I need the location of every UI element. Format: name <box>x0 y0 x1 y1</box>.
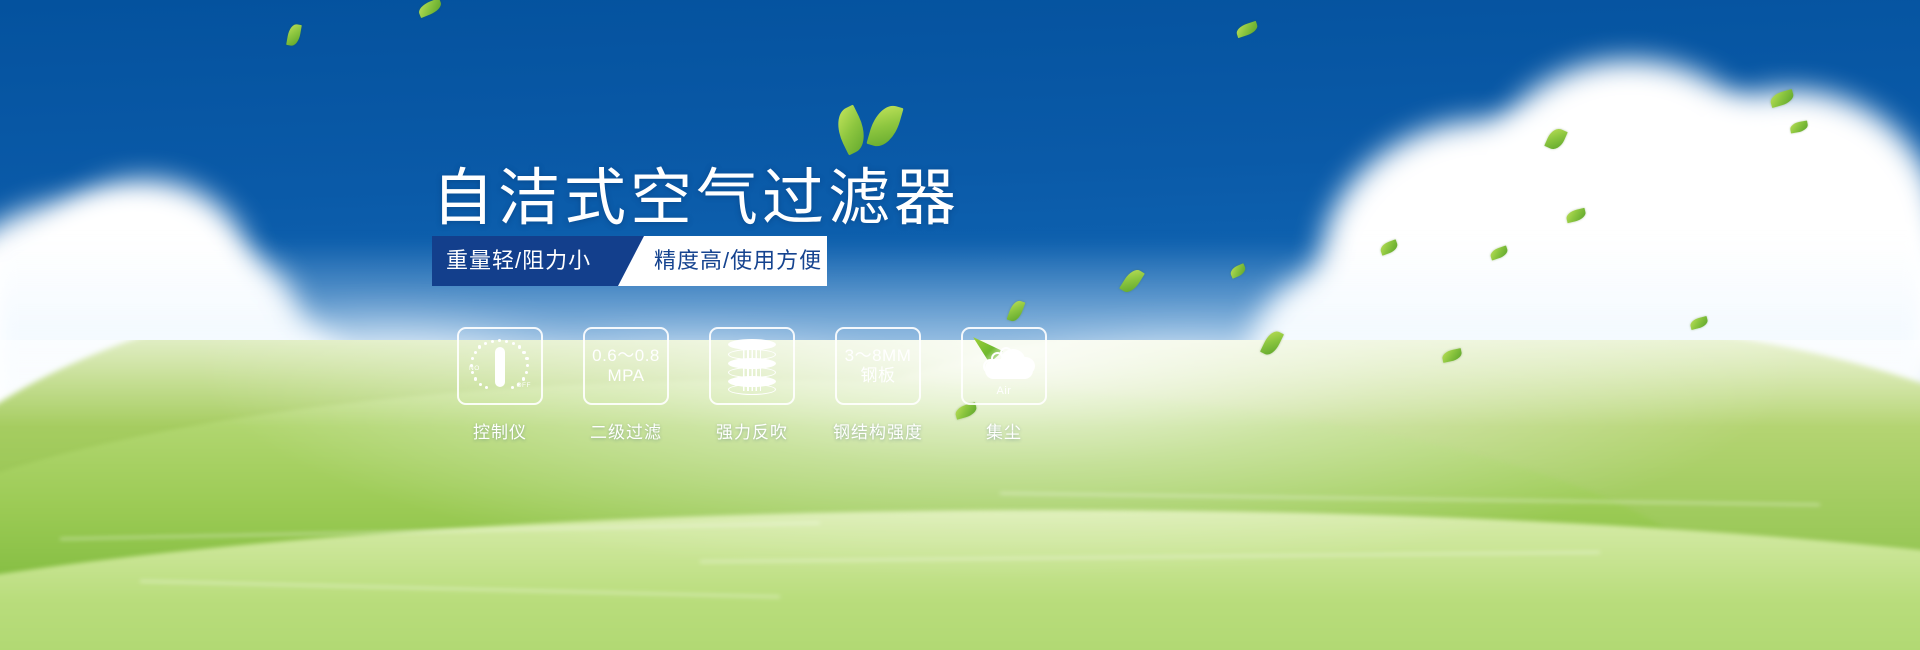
dial-on-label: NO <box>469 365 480 372</box>
feature-icon-box: Air <box>961 327 1047 405</box>
feature-item-steel[interactable]: 3～8MM 钢板 钢结构强度 <box>815 327 941 443</box>
feature-icon-box: 3～8MM 钢板 <box>835 327 921 405</box>
banner-hero: 自洁式空气过滤器 重量轻/阻力小 精度高/使用方便 <box>0 0 1920 650</box>
feature-icon-box: NO OFF <box>457 327 543 405</box>
feature-label: 二级过滤 <box>590 418 662 443</box>
air-label: Air <box>971 385 1037 397</box>
tagline-secondary-label: 精度高/使用方便 <box>654 236 822 286</box>
pressure-text-icon: 0.6～0.8 MPA <box>592 346 660 386</box>
feature-item-dust[interactable]: Air 集尘 <box>941 327 1067 443</box>
filter-stack-icon <box>725 337 779 395</box>
tagline-bar: 重量轻/阻力小 精度高/使用方便 <box>432 236 827 286</box>
feature-icon-box <box>709 327 795 405</box>
leaf-icon <box>866 101 903 150</box>
feature-label: 强力反吹 <box>716 418 788 443</box>
feature-label: 控制仪 <box>473 418 527 443</box>
feature-icon-box: 0.6～0.8 MPA <box>583 327 669 405</box>
dial-off-label: OFF <box>517 382 532 389</box>
banner-content: 自洁式空气过滤器 重量轻/阻力小 精度高/使用方便 <box>0 0 1920 650</box>
page-title: 自洁式空气过滤器 <box>432 168 960 230</box>
feature-list: NO OFF 控制仪 0.6～0.8 MPA 二级过滤 <box>437 327 1067 443</box>
feature-item-control[interactable]: NO OFF 控制仪 <box>437 327 563 443</box>
tagline-primary-label: 重量轻/阻力小 <box>446 236 591 286</box>
feature-item-pressure[interactable]: 0.6～0.8 MPA 二级过滤 <box>563 327 689 443</box>
feature-label: 集尘 <box>986 418 1022 443</box>
control-dial-icon: NO OFF <box>469 337 531 395</box>
leaf-icon <box>830 105 873 156</box>
dial-pointer <box>495 347 505 387</box>
feature-label: 钢结构强度 <box>833 418 923 443</box>
feature-item-backblow[interactable]: 强力反吹 <box>689 327 815 443</box>
air-cloud-icon: Air <box>971 337 1037 395</box>
steel-plate-text-icon: 3～8MM 钢板 <box>845 346 912 386</box>
